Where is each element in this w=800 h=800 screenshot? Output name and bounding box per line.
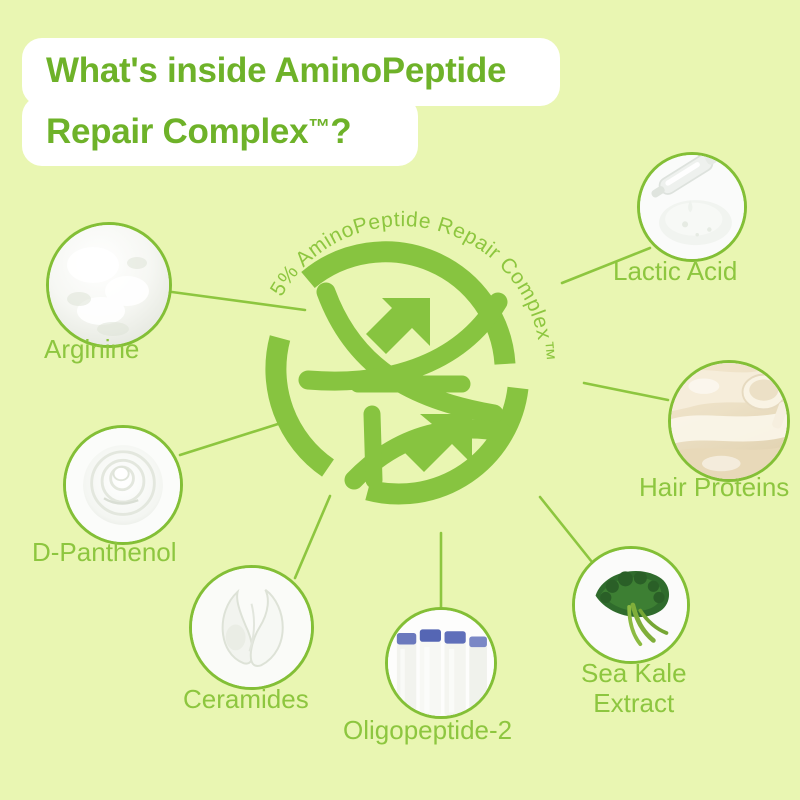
ingredient-label-hair-proteins: Hair Proteins	[639, 473, 789, 503]
wire-protein	[584, 383, 668, 400]
hub-arc-label: 5% AminoPeptide Repair Complex™	[266, 208, 559, 363]
svg-text:5% AminoPeptide Repair Complex: 5% AminoPeptide Repair Complex™	[266, 208, 559, 363]
ingredient-label-ceramides: Ceramides	[183, 685, 309, 715]
page-title-line-1: What's inside AminoPeptide	[46, 51, 506, 91]
wire-seakale	[540, 497, 592, 562]
title-card: What's inside AminoPeptide Repair Comple…	[22, 38, 562, 168]
ingredient-label-arginine: Arginine	[44, 335, 139, 365]
page-title-line-2: Repair Complex™?	[46, 112, 351, 152]
dropper-pipette-icon	[637, 152, 747, 262]
ingredient-label-seakale: Sea Kale Extract	[581, 659, 687, 718]
ampoule-vials-icon	[385, 607, 497, 719]
center-hub: 5% AminoPeptide Repair Complex™	[262, 218, 536, 510]
title-line2-tail: ?	[330, 112, 351, 151]
white-powder-icon	[46, 222, 172, 348]
hub-arc-text: 5% AminoPeptide Repair Complex™	[240, 176, 570, 506]
cream-swirl-icon	[63, 425, 183, 545]
beige-powder-scoop-icon	[668, 360, 790, 482]
ingredient-label-lactic-acid: Lactic Acid	[613, 257, 737, 287]
infographic-canvas: What's inside AminoPeptide Repair Comple…	[0, 0, 800, 800]
cream-double-swirl-icon	[189, 565, 314, 690]
title-line2-main: Repair Complex	[46, 112, 308, 151]
ingredient-label-oligopeptide: Oligopeptide-2	[343, 716, 512, 746]
trademark-symbol: ™	[308, 114, 330, 139]
ingredient-label-panthenol: D-Panthenol	[32, 538, 177, 568]
kale-leaf-icon	[572, 546, 690, 664]
